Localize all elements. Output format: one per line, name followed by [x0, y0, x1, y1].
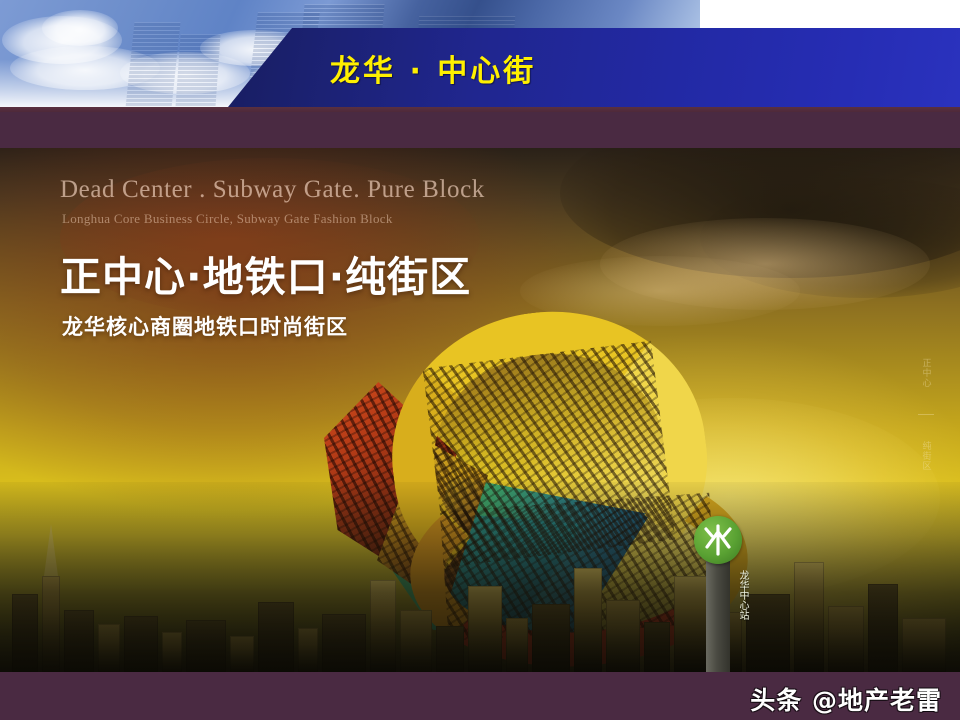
cloud-shape — [700, 178, 960, 298]
metro-logo-icon — [694, 516, 742, 564]
poster-edge-marks: 正中心 纯街区 — [906, 358, 946, 518]
building-shape — [124, 616, 158, 672]
building-shape — [98, 624, 120, 672]
poster-chinese-headline: 正中心·地铁口·纯街区 — [60, 243, 580, 303]
slide-root: 龙华 · 中心街 Dead Center . Subway Gate. Pure… — [0, 0, 960, 720]
cloud-shape — [10, 46, 160, 90]
building-shape — [64, 610, 94, 672]
glass-tower-shape — [175, 34, 220, 108]
cloud-shape — [560, 148, 960, 278]
building-shape — [794, 562, 824, 672]
cloud-shape — [2, 16, 122, 64]
building-shape — [828, 606, 864, 672]
cloud-shape — [42, 10, 118, 46]
glyph-texture — [440, 493, 718, 642]
building-shape — [746, 594, 790, 672]
building-spire — [44, 524, 58, 576]
metro-station-name: 龙华中心站 — [688, 570, 748, 620]
building-shape — [868, 584, 898, 672]
building-shape — [42, 576, 60, 672]
metro-station-sign: 龙华中心站 — [688, 516, 748, 672]
ribbon-sculpture — [300, 318, 700, 648]
cloud-shape — [600, 218, 930, 310]
building-shape — [902, 618, 946, 672]
watermark-credit: 头条 @地产老雷 — [750, 681, 942, 717]
building-shape — [12, 594, 38, 672]
edge-mark-rule — [918, 414, 934, 415]
poster-english-subhead: Longhua Core Business Circle, Subway Gat… — [62, 211, 580, 227]
slide-header: 龙华 · 中心街 — [0, 0, 960, 118]
poster-english-headline: Dead Center . Subway Gate. Pure Block — [60, 176, 580, 204]
glass-tower-shape — [125, 22, 180, 108]
metro-logo-disc — [694, 516, 742, 564]
poster-copy-block: Dead Center . Subway Gate. Pure Block Lo… — [60, 176, 580, 341]
page-title: 龙华 · 中心街 — [330, 46, 536, 90]
edge-mark-top-text: 正中心 — [920, 358, 933, 388]
poster-image: Dead Center . Subway Gate. Pure Block Lo… — [0, 148, 960, 672]
building-shape — [162, 632, 182, 672]
building-shape — [186, 620, 226, 672]
building-shape — [230, 636, 254, 672]
cloud-shape — [120, 52, 250, 94]
building-shape — [258, 602, 294, 672]
edge-mark-bottom-text: 纯街区 — [920, 441, 933, 471]
